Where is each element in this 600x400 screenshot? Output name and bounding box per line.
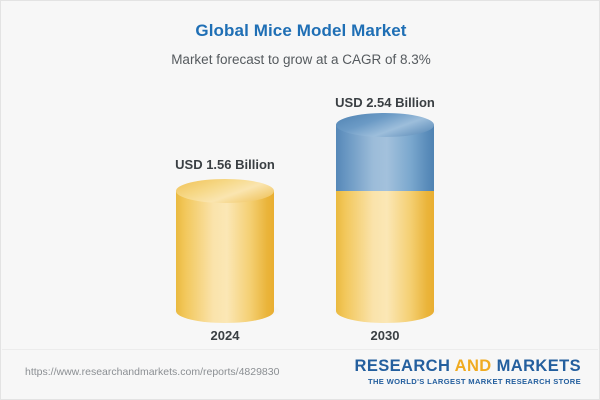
brand-logo[interactable]: RESEARCH AND MARKETS THE WORLD'S LARGEST… bbox=[355, 358, 582, 386]
bar-segment-base-2030 bbox=[336, 191, 434, 311]
brand-tagline: THE WORLD'S LARGEST MARKET RESEARCH STOR… bbox=[355, 377, 582, 386]
brand-word-research: RESEARCH bbox=[355, 357, 455, 375]
brand-wordmark: RESEARCH AND MARKETS bbox=[355, 358, 582, 375]
bar-value-label-2024: USD 1.56 Billion bbox=[145, 157, 305, 172]
brand-word-markets: MARKETS bbox=[492, 357, 581, 375]
source-url-link[interactable]: https://www.researchandmarkets.com/repor… bbox=[25, 366, 279, 378]
chart-subtitle: Market forecast to grow at a CAGR of 8.3… bbox=[1, 41, 600, 67]
page-title: Global Mice Model Market bbox=[1, 1, 600, 41]
bar-cylinder-2030[interactable] bbox=[336, 125, 434, 311]
bar-segment-base-2024 bbox=[176, 191, 274, 311]
chart-header: Global Mice Model Market Market forecast… bbox=[1, 1, 600, 67]
market-chart-card: Global Mice Model Market Market forecast… bbox=[0, 0, 600, 400]
bar-top-ellipse-2030 bbox=[336, 113, 434, 137]
bar-group-2030: USD 2.54 Billion 2030 bbox=[305, 87, 465, 343]
chart-footer: https://www.researchandmarkets.com/repor… bbox=[1, 350, 600, 399]
chart-plot-area: USD 1.56 Billion 2024 USD 2.54 Billion bbox=[1, 87, 600, 343]
brand-word-and: AND bbox=[455, 357, 492, 375]
bar-value-label-2030: USD 2.54 Billion bbox=[305, 95, 465, 110]
category-label-2024: 2024 bbox=[145, 328, 305, 343]
bar-top-ellipse-2024 bbox=[176, 179, 274, 203]
category-label-2030: 2030 bbox=[305, 328, 465, 343]
bar-segment-growth-2030 bbox=[336, 125, 434, 191]
bar-group-2024: USD 1.56 Billion 2024 bbox=[145, 87, 305, 343]
bar-cylinder-2024[interactable] bbox=[176, 191, 274, 311]
